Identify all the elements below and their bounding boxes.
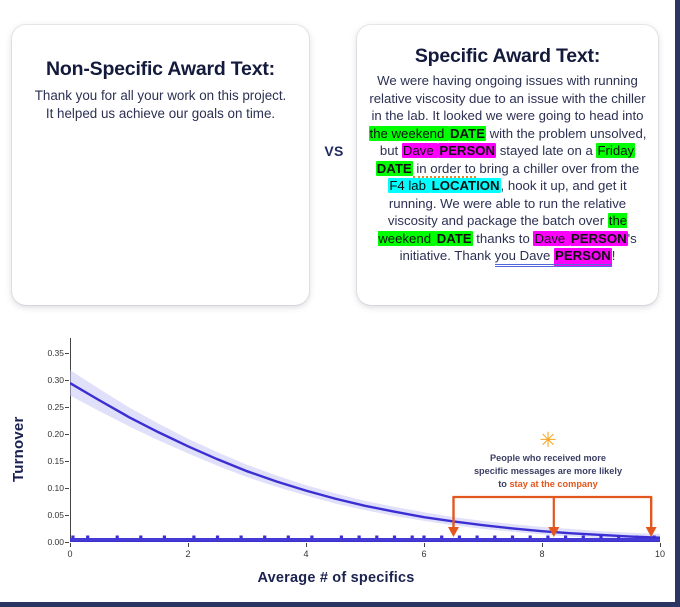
observation-point [358,536,361,539]
observation-point [653,536,656,539]
chart-y-tick-label: 0.15 [47,456,64,466]
chart-y-tick-label: 0.20 [47,429,64,439]
chart-y-tick-mark [65,542,69,543]
observation-point [599,536,602,539]
highlight-location: F4 lab [388,178,430,193]
observation-point [476,536,479,539]
chart-annotation: ✳ People who received more specific mess… [423,430,673,491]
observation-point [411,536,414,539]
observation-point [375,536,378,539]
specific-card-body: We were having ongoing issues with runni… [357,72,658,265]
observation-point [582,536,585,539]
observation-point [493,536,496,539]
chart-y-tick-mark [65,515,69,516]
chart-x-tick-label: 10 [655,549,665,559]
observation-point [192,536,195,539]
chart-x-tick-mark [424,543,425,547]
annotation-text: People who received more specific messag… [423,452,673,491]
observation-point [139,536,142,539]
observation-point [310,536,313,539]
observation-point [635,536,638,539]
chart-x-tick-mark [70,543,71,547]
chart-x-tick-mark [542,543,543,547]
observation-point [163,536,166,539]
non-specific-line-2: It helped us achieve our goals on time. [46,106,275,121]
chart-y-tick-mark [65,461,69,462]
highlight-person: Dave [402,143,438,158]
chart-y-tick-mark [65,488,69,489]
chart-y-tick-label: 0.00 [47,537,64,547]
chart-y-tick-mark [65,407,69,408]
specific-card-title: Specific Award Text: [357,45,658,68]
chart-x-tick-label: 6 [421,549,426,559]
vs-label: VS [312,143,356,159]
chart-y-tick-label: 0.05 [47,510,64,520]
chart-y-tick-label: 0.35 [47,348,64,358]
observation-point [564,536,567,539]
observation-point [458,536,461,539]
chart-y-axis-label: Turnover [10,417,27,483]
chart-x-tick-mark [306,543,307,547]
chart-x-tick-label: 8 [539,549,544,559]
highlight-person: Dave [533,231,569,246]
text-run: bring a chiller over from the [476,161,639,176]
non-specific-award-card: Non-Specific Award Text: Thank you for a… [12,25,309,305]
chart-y-tick-mark [65,353,69,354]
specific-award-card: Specific Award Text: We were having ongo… [357,25,658,305]
non-specific-line-1: Thank you for all your work on this proj… [35,88,287,103]
text-run: thanks to [473,231,534,246]
observation-point [529,536,532,539]
observation-point [240,536,243,539]
turnover-chart: Turnover Average # of specifics 0.000.05… [0,332,672,602]
highlight-date: the weekend [369,126,449,141]
chart-y-tick-label: 0.25 [47,402,64,412]
observation-point [86,536,89,539]
chart-x-tick-label: 4 [303,549,308,559]
chart-x-tick-mark [660,543,661,547]
entity-label-date: DATE [436,231,473,246]
text-run: ! [612,248,616,263]
text-run: We were having ongoing issues with runni… [369,73,645,123]
chart-y-tick-label: 0.30 [47,375,64,385]
chart-y-tick-mark [65,434,69,435]
annotation-line-1: People who received more [490,453,606,463]
asterisk-icon: ✳ [423,430,673,451]
chart-y-tick-mark [65,380,69,381]
observation-point [422,536,425,539]
entity-label-person: PERSON [438,143,496,158]
observation-point [216,536,219,539]
non-specific-card-body: Thank you for all your work on this proj… [12,87,309,123]
observation-point [393,536,396,539]
observation-point [340,536,343,539]
annotation-emphasis: stay at the company [509,479,597,489]
chart-y-tick-label: 0.10 [47,483,64,493]
comparison-cards: Non-Specific Award Text: Thank you for a… [0,0,672,330]
entity-label-person-underlined: PERSON [554,248,612,267]
observation-point [440,536,443,539]
annotation-line-2: specific messages are more likely [474,466,622,476]
text-run: stayed late on a [496,143,596,158]
dotted-underline-run: in order to [413,161,476,178]
observation-point [263,536,266,539]
entity-label-location: LOCATION [431,178,501,193]
chart-x-tick-mark [188,543,189,547]
observation-rug-band [70,538,660,542]
observation-point [287,536,290,539]
entity-label-date: DATE [376,161,413,176]
right-border [675,0,680,607]
bottom-border [0,602,680,607]
double-underline-run: you Dave [495,248,554,267]
chart-x-axis-label: Average # of specifics [0,570,672,586]
observation-point [511,536,514,539]
annotation-line-3-prefix: to [498,479,509,489]
observation-point [116,536,119,539]
non-specific-card-title: Non-Specific Award Text: [12,58,309,81]
observation-point [71,536,74,539]
observation-point [546,536,549,539]
highlight-date: Friday [596,143,635,158]
entity-label-person: PERSON [570,231,628,246]
entity-label-date: DATE [449,126,486,141]
chart-x-tick-label: 2 [185,549,190,559]
slide-root: Non-Specific Award Text: Thank you for a… [0,0,680,607]
chart-x-tick-label: 0 [67,549,72,559]
observation-point [617,536,620,539]
